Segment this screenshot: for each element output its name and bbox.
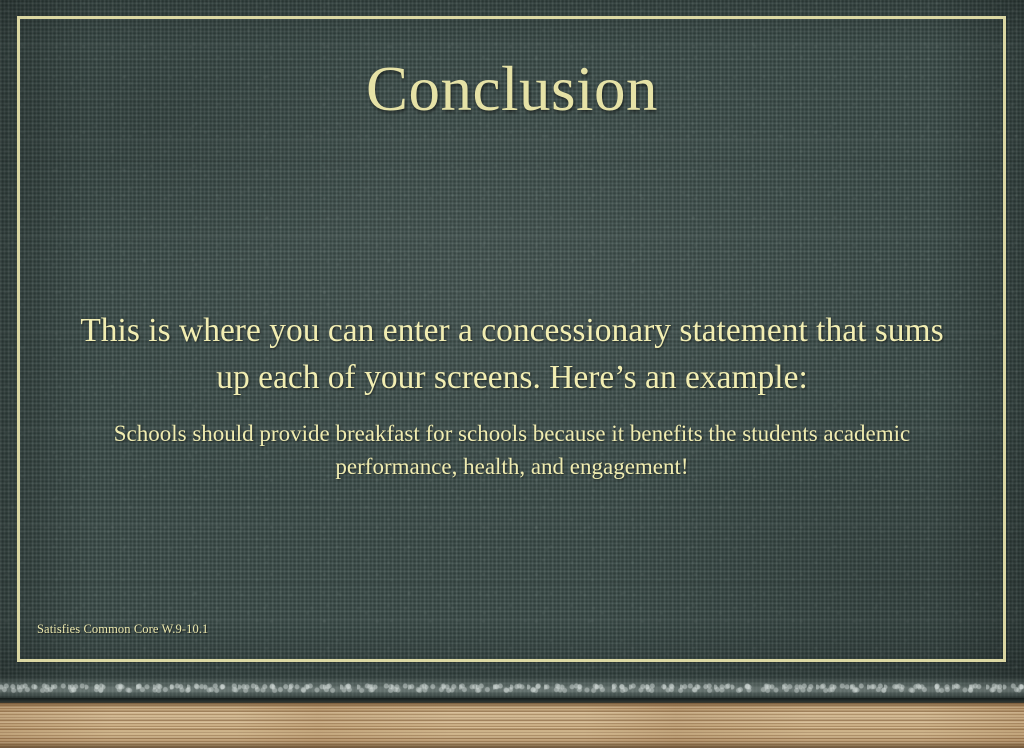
slide-example-text: Schools should provide breakfast for sch… xyxy=(72,418,952,483)
chalk-dust-grain xyxy=(0,678,1024,698)
wood-grain-streaks xyxy=(0,703,1024,748)
wooden-chalk-ledge xyxy=(0,703,1024,748)
slide-canvas: Conclusion This is where you can enter a… xyxy=(0,0,1024,748)
slide-body-text: This is where you can enter a concession… xyxy=(62,308,962,402)
slide-footnote: Satisfies Common Core W.9-10.1 xyxy=(37,622,208,637)
slide-title: Conclusion xyxy=(0,56,1024,122)
